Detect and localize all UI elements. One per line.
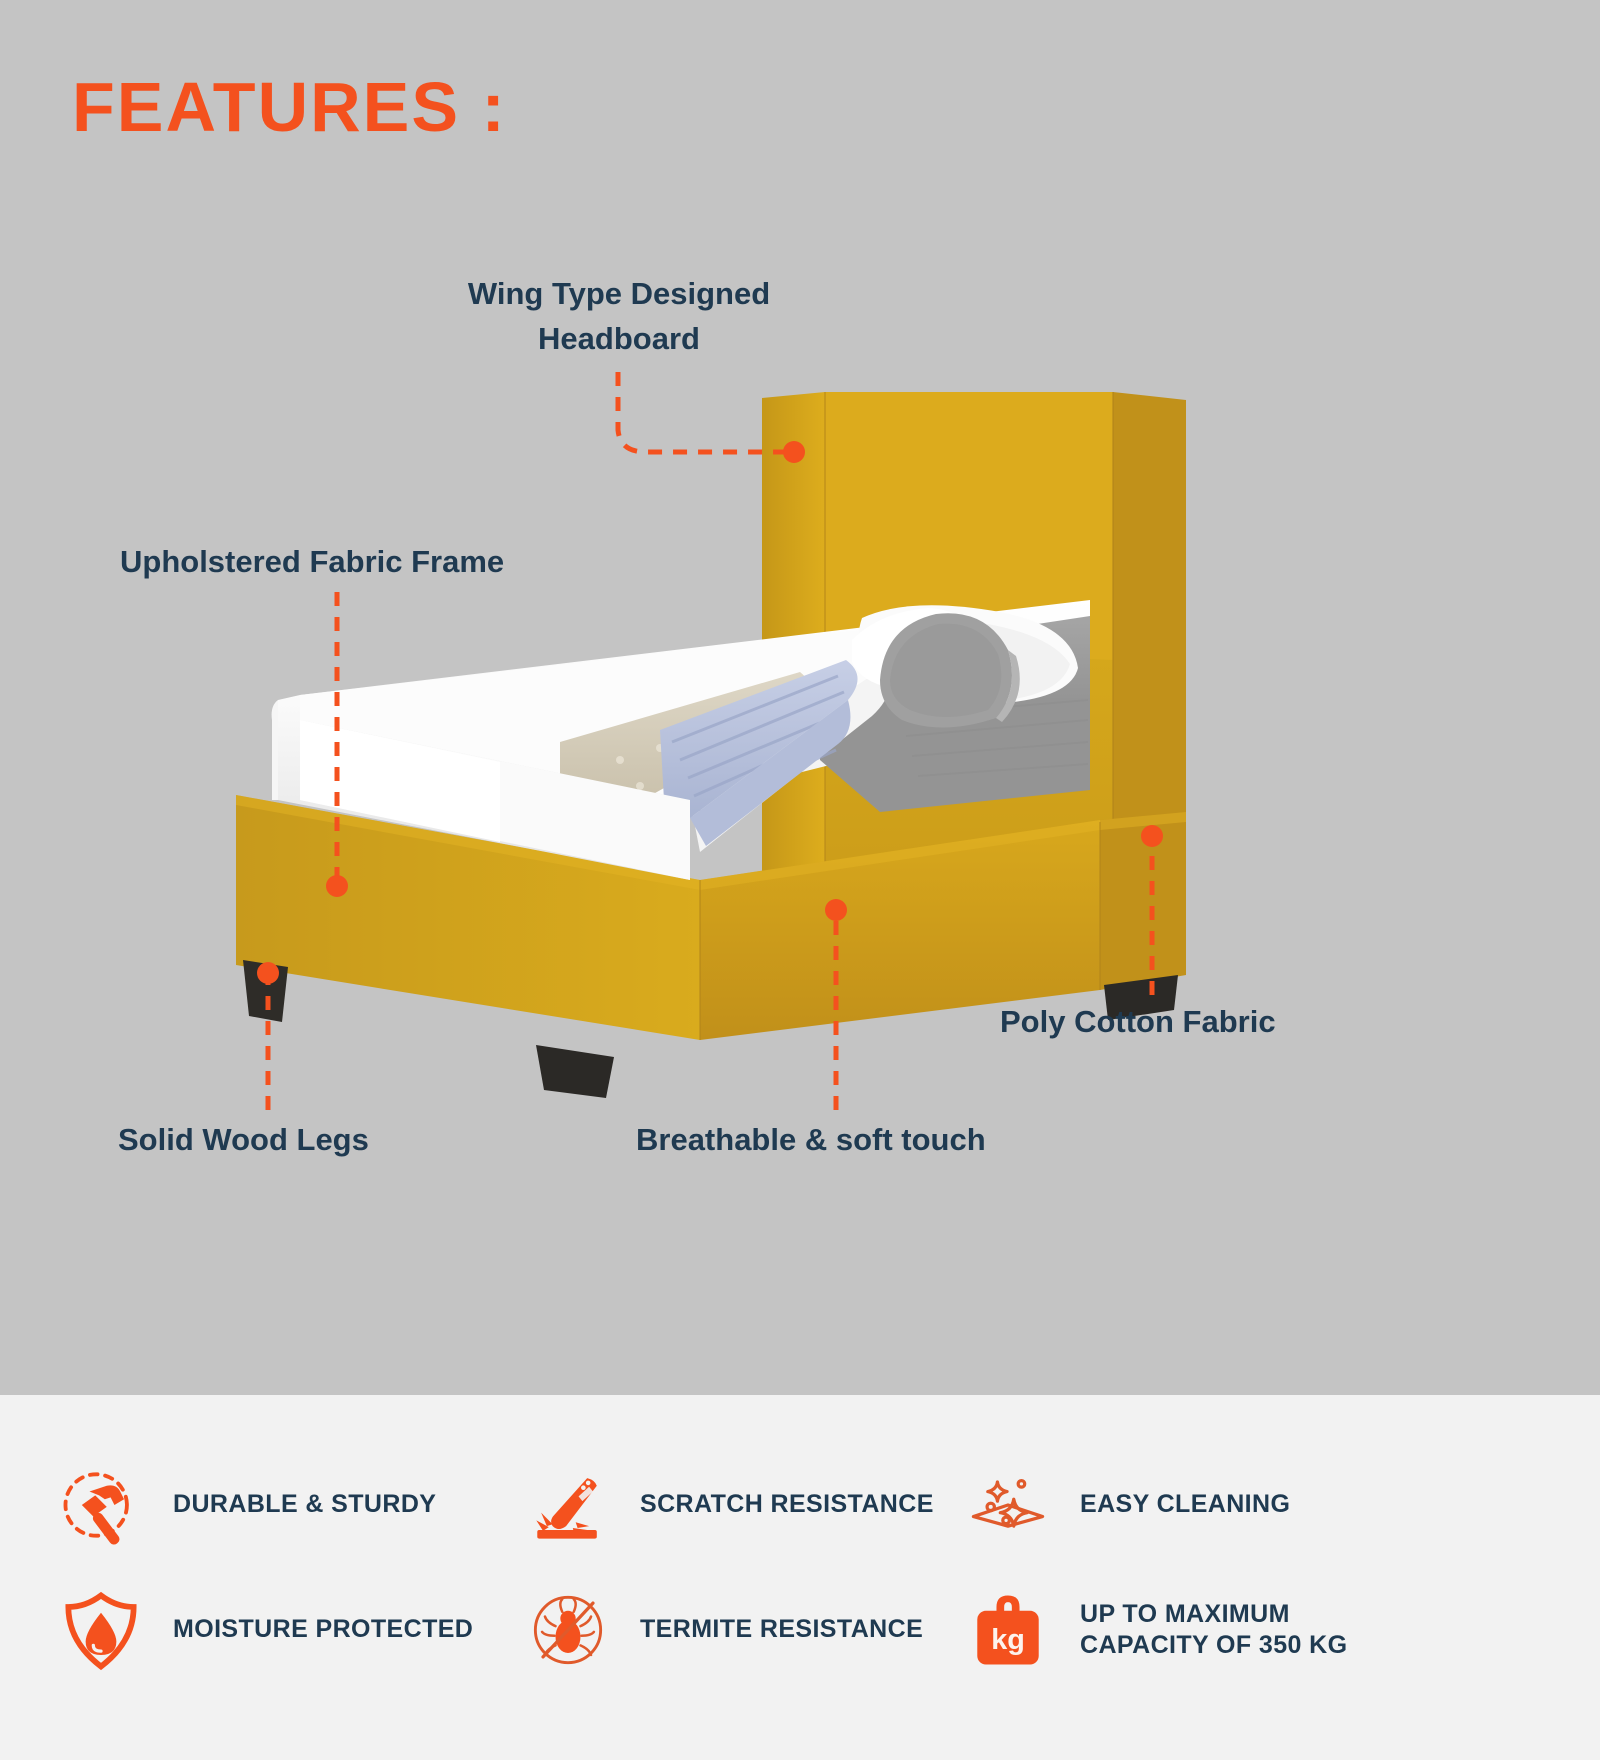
sparkle-clean-icon bbox=[955, 1455, 1060, 1555]
connector-dot-breath bbox=[825, 899, 847, 921]
callout-breathable-soft-touch: Breathable & soft touch bbox=[636, 1118, 1046, 1163]
feature-easy-cleaning: EASY CLEANING bbox=[955, 1445, 1515, 1565]
connector-dot-uphol bbox=[326, 875, 348, 897]
feature-label: UP TO MAXIMUM CAPACITY OF 350 KG bbox=[1060, 1599, 1347, 1662]
connector-dot-poly bbox=[1141, 825, 1163, 847]
feature-row-2: MOISTURE PROTECTED bbox=[0, 1570, 1600, 1690]
callout-wing-type-headboard: Wing Type Designed Headboard bbox=[444, 272, 794, 362]
feature-label: TERMITE RESISTANCE bbox=[620, 1614, 923, 1645]
feature-termite-resistance: TERMITE RESISTANCE bbox=[515, 1570, 955, 1690]
knife-scratch-icon bbox=[515, 1455, 620, 1555]
callout-connectors bbox=[0, 0, 1600, 1395]
callout-solid-wood-legs: Solid Wood Legs bbox=[118, 1118, 418, 1163]
feature-max-capacity: kg UP TO MAXIMUM CAPACITY OF 350 KG bbox=[955, 1570, 1515, 1690]
hero-panel: FEATURES : bbox=[0, 0, 1600, 1395]
connector-wing bbox=[618, 372, 792, 452]
callout-poly-cotton-fabric: Poly Cotton Fabric bbox=[1000, 1000, 1330, 1045]
feature-label: SCRATCH RESISTANCE bbox=[620, 1489, 934, 1520]
connector-dot-wing bbox=[783, 441, 805, 463]
shield-droplet-icon bbox=[48, 1580, 153, 1680]
no-termite-icon bbox=[515, 1580, 620, 1680]
svg-text:kg: kg bbox=[991, 1624, 1025, 1656]
connector-dot-legs bbox=[257, 962, 279, 984]
feature-row-1: DURABLE & STURDY bbox=[0, 1445, 1600, 1565]
feature-scratch-resistance: SCRATCH RESISTANCE bbox=[515, 1445, 955, 1565]
feature-label: MOISTURE PROTECTED bbox=[153, 1614, 473, 1645]
feature-label: DURABLE & STURDY bbox=[153, 1489, 436, 1520]
hammer-icon bbox=[48, 1455, 153, 1555]
feature-moisture-protected: MOISTURE PROTECTED bbox=[0, 1570, 515, 1690]
kg-bag-icon: kg bbox=[955, 1580, 1060, 1680]
feature-durable-sturdy: DURABLE & STURDY bbox=[0, 1445, 515, 1565]
callout-upholstered-fabric-frame: Upholstered Fabric Frame bbox=[120, 540, 560, 585]
feature-label: EASY CLEANING bbox=[1060, 1489, 1290, 1520]
feature-strip: DURABLE & STURDY bbox=[0, 1395, 1600, 1760]
